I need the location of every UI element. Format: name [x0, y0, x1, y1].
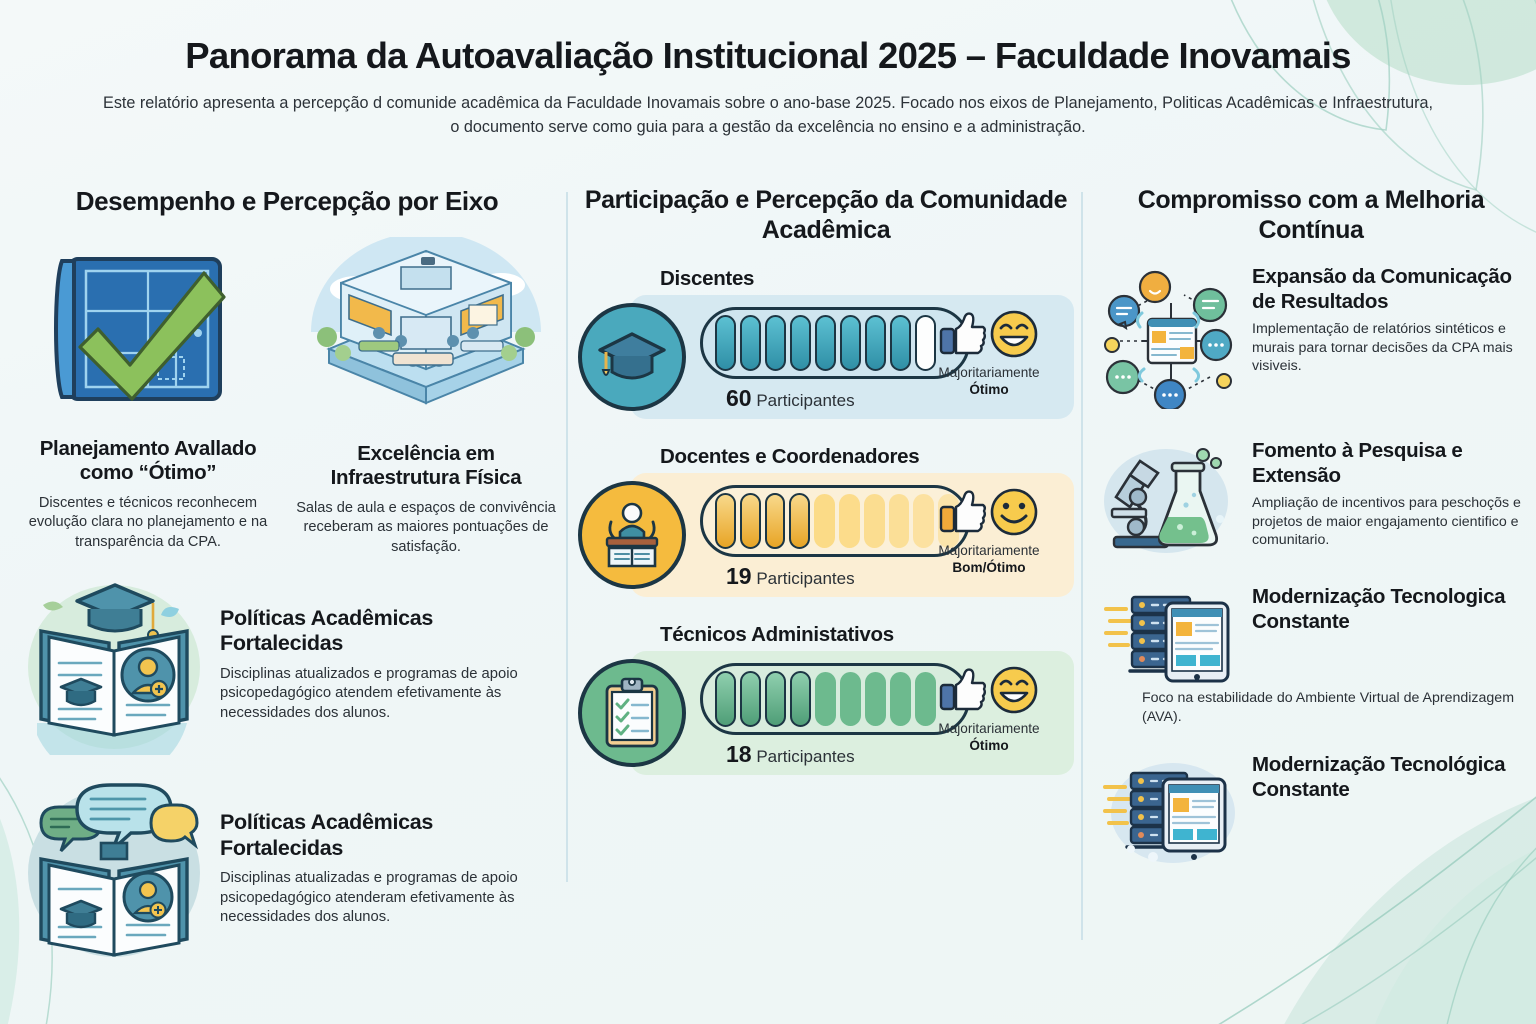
group-tecnicos-label: Técnicos Administativos [660, 623, 1074, 647]
right-item-pesquisa-title: Fomento à Pesquisa e Extensão [1252, 439, 1526, 488]
right-item-comunicacao-desc: Implementação de relatórios sintéticos e… [1252, 320, 1526, 375]
coin-stack-filled [715, 493, 736, 549]
group-docentes: Docentes e Coordenadores [578, 445, 1074, 597]
server-tablet-icon [1101, 757, 1241, 865]
infographic-canvas: Panorama da Autoavaliação Institucional … [0, 0, 1536, 1024]
right-item-tecnologia-1-text: Modernização Tecnologica Constante [1252, 585, 1526, 634]
coin-stack-filled [715, 671, 736, 727]
microscope-flask-icon [1100, 443, 1242, 563]
group-tecnicos-verdict-text: Majoritariamente Ótimo [916, 721, 1062, 754]
column-divider-left [566, 192, 568, 882]
coin-stack-filled [890, 315, 911, 371]
coin-stack-filled [790, 315, 811, 371]
row-politicas-2-desc: Disciplinas atualizadas e programas de a… [220, 869, 554, 928]
plain-bar [865, 672, 886, 726]
network-dashboard-icon [1098, 269, 1244, 409]
coin-stack-filled [815, 315, 836, 371]
right-item-tecnologia-2: Modernização Tecnológica Constante [1096, 753, 1526, 865]
group-tecnicos-card: 18 Participantes [630, 651, 1074, 775]
row-politicas-1-title: Políticas Acadêmicas Fortalecidas [220, 606, 554, 657]
right-item-pesquisa-text: Fomento à Pesquisa e Extensão Ampliação … [1252, 439, 1526, 550]
verdict-icons [916, 309, 1062, 359]
coin-stack-filled [715, 315, 736, 371]
group-discentes-card: 60 Participantes [630, 295, 1074, 419]
right-item-tecnologia-2-text: Modernização Tecnológica Constante [1252, 753, 1526, 802]
group-docentes-verdict: Majoritariamente Bom/Ótimo [916, 487, 1062, 576]
right-item-comunicacao: Expansão da Comunicação de Resultados Im… [1096, 265, 1526, 409]
lectern-teacher-icon [578, 481, 686, 589]
right-item-comunicacao-title: Expansão da Comunicação de Resultados [1252, 265, 1526, 314]
thumbs-up-icon [939, 311, 987, 357]
left-top-cards: Planejamento Avallado como “Ótimo” Disce… [14, 237, 560, 557]
group-tecnicos-count-unit: Participantes [756, 747, 854, 766]
card-infraestrutura: Excelência em Infraestrutura Física Sala… [292, 237, 560, 557]
plain-bar [815, 672, 836, 726]
row-politicas-1-text: Políticas Acadêmicas Fortalecidas Discip… [220, 606, 560, 724]
group-discentes-verdict-text: Majoritariamente Ótimo [916, 365, 1062, 398]
row-politicas-2: Políticas Acadêmicas Fortalecidas Discip… [14, 777, 560, 962]
plain-bar [814, 494, 835, 548]
verdict-value: Bom/Ótimo [952, 560, 1025, 575]
header: Panorama da Autoavaliação Institucional … [0, 36, 1536, 139]
right-item-pesquisa-art [1096, 439, 1246, 563]
speech-bubbles-book-icon [19, 777, 209, 962]
right-item-pesquisa: Fomento à Pesquisa e Extensão Ampliação … [1096, 439, 1526, 563]
right-column-heading: Compromisso com a Melhoria Contínua [1096, 186, 1526, 245]
blueprint-checkmark-icon [48, 237, 248, 427]
right-item-pesquisa-desc: Ampliação de incentivos para peschoçõs e… [1252, 494, 1526, 549]
group-tecnicos-count-value: 18 [726, 741, 752, 767]
group-discentes-verdict: Majoritariamente Ótimo [916, 309, 1062, 398]
right-item-tecnologia-2-art [1096, 753, 1246, 865]
group-discentes-count-value: 60 [726, 385, 752, 411]
coin-stack-filled [740, 671, 761, 727]
row-politicas-1-desc: Disciplinas atualizados e programas de a… [220, 665, 554, 724]
coin-stack-filled [865, 315, 886, 371]
grinning-face-icon [989, 309, 1039, 359]
grinning-face-icon [989, 665, 1039, 715]
group-discentes-count-unit: Participantes [756, 391, 854, 410]
page-subtitle: Este relatório apresenta a percepção d c… [98, 92, 1438, 139]
row-politicas-1-art [14, 575, 214, 755]
right-column: Compromisso com a Melhoria Contínua [1096, 186, 1526, 865]
thumbs-up-icon [939, 489, 987, 535]
coin-stack-filled [790, 671, 811, 727]
card-infraestrutura-desc: Salas de aula e espaços de convivência r… [292, 499, 560, 557]
right-item-comunicacao-art [1096, 265, 1246, 409]
graduation-cap-icon [578, 303, 686, 411]
group-docentes-verdict-text: Majoritariamente Bom/Ótimo [916, 543, 1062, 576]
page-title: Panorama da Autoavaliação Institucional … [0, 36, 1536, 76]
row-politicas-2-title: Políticas Acadêmicas Fortalecidas [220, 810, 554, 861]
right-item-tecnologia-2-title: Modernização Tecnológica Constante [1252, 753, 1526, 802]
card-planejamento: Planejamento Avallado como “Ótimo” Disce… [14, 237, 282, 557]
open-book-graduation-icon [19, 575, 209, 755]
card-planejamento-title: Planejamento Avallado como “Ótimo” [14, 437, 282, 485]
group-discentes: Discentes [578, 267, 1074, 419]
plain-bar [840, 672, 861, 726]
group-docentes-count-unit: Participantes [756, 569, 854, 588]
middle-column: Participação e Percepção da Comunidade A… [578, 186, 1074, 775]
right-item-tecnologia-1-title: Modernização Tecnologica Constante [1252, 585, 1526, 634]
clipboard-checklist-icon [578, 659, 686, 767]
right-item-tecnologia-1-art [1096, 585, 1246, 685]
coin-stack-filled [765, 493, 786, 549]
column-divider-right [1081, 192, 1083, 940]
right-item-tecnologia-1: Modernização Tecnologica Constante [1096, 585, 1526, 685]
card-infraestrutura-title: Excelência em Infraestrutura Física [292, 442, 560, 490]
row-politicas-2-art [14, 777, 214, 962]
coin-stack-filled [765, 315, 786, 371]
verdict-prefix: Majoritariamente [938, 721, 1039, 736]
left-column: Desempenho e Percepção por Eixo Planejam… [14, 186, 560, 962]
verdict-prefix: Majoritariamente [938, 543, 1039, 558]
group-docentes-count-value: 19 [726, 563, 752, 589]
group-docentes-card: 19 Participantes [630, 473, 1074, 597]
plain-bar [890, 672, 911, 726]
verdict-prefix: Majoritariamente [938, 365, 1039, 380]
server-tablet-icon [1104, 589, 1238, 685]
plain-bar [889, 494, 910, 548]
verdict-value: Ótimo [969, 738, 1008, 753]
card-planejamento-desc: Discentes e técnicos reconhecem evolução… [14, 494, 282, 552]
isometric-campus-icon [301, 237, 551, 432]
row-politicas-1: Políticas Acadêmicas Fortalecidas Discip… [14, 575, 560, 755]
verdict-value: Ótimo [969, 382, 1008, 397]
group-discentes-count: 60 Participantes [726, 385, 855, 412]
group-tecnicos: Técnicos Administativos [578, 623, 1074, 775]
group-tecnicos-count: 18 Participantes [726, 741, 855, 768]
plain-bar [864, 494, 885, 548]
thumbs-up-icon [939, 667, 987, 713]
group-discentes-label: Discentes [660, 267, 1074, 291]
coin-stack-filled [840, 315, 861, 371]
coin-stack-filled [740, 493, 761, 549]
coin-stack-filled [740, 315, 761, 371]
verdict-icons [916, 487, 1062, 537]
coin-stack-filled [765, 671, 786, 727]
group-tecnicos-verdict: Majoritariamente Ótimo [916, 665, 1062, 754]
coin-stack-filled [789, 493, 810, 549]
plain-bar [839, 494, 860, 548]
right-item-comunicacao-text: Expansão da Comunicação de Resultados Im… [1252, 265, 1526, 376]
middle-column-heading: Participação e Percepção da Comunidade A… [578, 186, 1074, 245]
right-item-tecnologia-1-desc: Foco na estabilidade do Ambiente Virtual… [1142, 689, 1526, 727]
left-column-heading: Desempenho e Percepção por Eixo [14, 186, 560, 217]
row-politicas-2-text: Políticas Acadêmicas Fortalecidas Discip… [220, 810, 560, 928]
verdict-icons [916, 665, 1062, 715]
group-docentes-count: 19 Participantes [726, 563, 855, 590]
smiling-face-icon [989, 487, 1039, 537]
group-docentes-label: Docentes e Coordenadores [660, 445, 1074, 469]
